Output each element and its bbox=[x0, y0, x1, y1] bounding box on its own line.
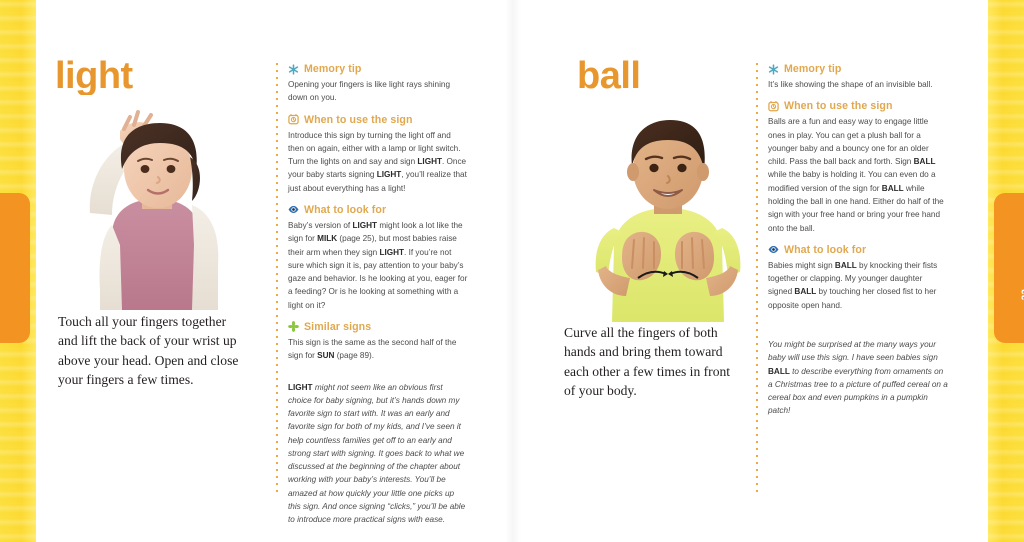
section-heading: What to look for bbox=[288, 204, 468, 216]
sign-photo-left bbox=[64, 95, 256, 310]
sign-caption-left: Touch all your fingers together and lift… bbox=[58, 312, 240, 389]
section-heading-label: Similar signs bbox=[304, 321, 371, 333]
section-heading: Memory tip bbox=[288, 63, 468, 75]
page-right: ball bbox=[512, 0, 988, 542]
author-anecdote: You might be surprised at the many ways … bbox=[768, 338, 948, 418]
sign-photo-right bbox=[564, 100, 772, 322]
sparkle-icon bbox=[288, 64, 299, 75]
clock-icon bbox=[768, 101, 779, 112]
flower-icon bbox=[288, 321, 299, 332]
section-heading-label: When to use the sign bbox=[304, 114, 413, 126]
sparkle-icon bbox=[768, 64, 779, 75]
child-signing-ball-illustration bbox=[564, 100, 772, 322]
section-body: Introduce this sign by turning the light… bbox=[288, 129, 468, 195]
section-body: This sign is the same as the second half… bbox=[288, 336, 468, 363]
author-anecdote: LIGHT might not seem like an obvious fir… bbox=[288, 381, 468, 527]
info-column-left: Memory tipOpening your fingers is like l… bbox=[288, 63, 468, 535]
info-section: When to use the signBalls are a fun and … bbox=[768, 100, 948, 235]
info-column-right: Memory tipIt’s like showing the shape of… bbox=[768, 63, 948, 426]
section-heading-label: Memory tip bbox=[784, 63, 842, 75]
section-body: It’s like showing the shape of an invisi… bbox=[768, 78, 948, 91]
eye-icon bbox=[768, 244, 779, 255]
clock-icon bbox=[288, 114, 299, 125]
section-heading: What to look for bbox=[768, 244, 948, 256]
section-heading-label: What to look for bbox=[304, 204, 386, 216]
section-body: Balls are a fun and easy way to engage l… bbox=[768, 115, 948, 235]
section-heading: Memory tip bbox=[768, 63, 948, 75]
page-number-right: 33 bbox=[1020, 288, 1024, 300]
child-signing-light-illustration bbox=[64, 95, 256, 310]
column-divider-left bbox=[276, 63, 278, 495]
info-section: What to look forBabies might sign BALL b… bbox=[768, 244, 948, 312]
section-heading: When to use the sign bbox=[288, 114, 468, 126]
section-heading: When to use the sign bbox=[768, 100, 948, 112]
section-body: Babies might sign BALL by knocking their… bbox=[768, 259, 948, 312]
page-left: light bbox=[36, 0, 512, 542]
sign-word-title-right: ball bbox=[577, 57, 640, 95]
section-body: Baby’s version of LIGHT might look a lot… bbox=[288, 219, 468, 312]
sign-word-title-left: light bbox=[55, 57, 133, 95]
section-body: Opening your fingers is like light rays … bbox=[288, 78, 468, 105]
info-section: Memory tipIt’s like showing the shape of… bbox=[768, 63, 948, 91]
section-heading-label: What to look for bbox=[784, 244, 866, 256]
section-heading: Similar signs bbox=[288, 321, 468, 333]
index-tab-right[interactable]: 33 the first 10 signs bbox=[994, 193, 1024, 343]
column-divider-right bbox=[756, 63, 758, 495]
info-section: When to use the signIntroduce this sign … bbox=[288, 114, 468, 195]
info-section: What to look forBaby’s version of LIGHT … bbox=[288, 204, 468, 312]
book-spread: 32 baby sign language made easy 33 the f… bbox=[0, 0, 1024, 542]
sign-caption-right: Curve all the fingers of both hands and … bbox=[564, 323, 744, 400]
section-heading-label: When to use the sign bbox=[784, 100, 893, 112]
eye-icon bbox=[288, 204, 299, 215]
section-heading-label: Memory tip bbox=[304, 63, 362, 75]
info-section: Memory tipOpening your fingers is like l… bbox=[288, 63, 468, 105]
info-section: Similar signsThis sign is the same as th… bbox=[288, 321, 468, 363]
index-tab-left[interactable]: 32 baby sign language made easy bbox=[0, 193, 30, 343]
